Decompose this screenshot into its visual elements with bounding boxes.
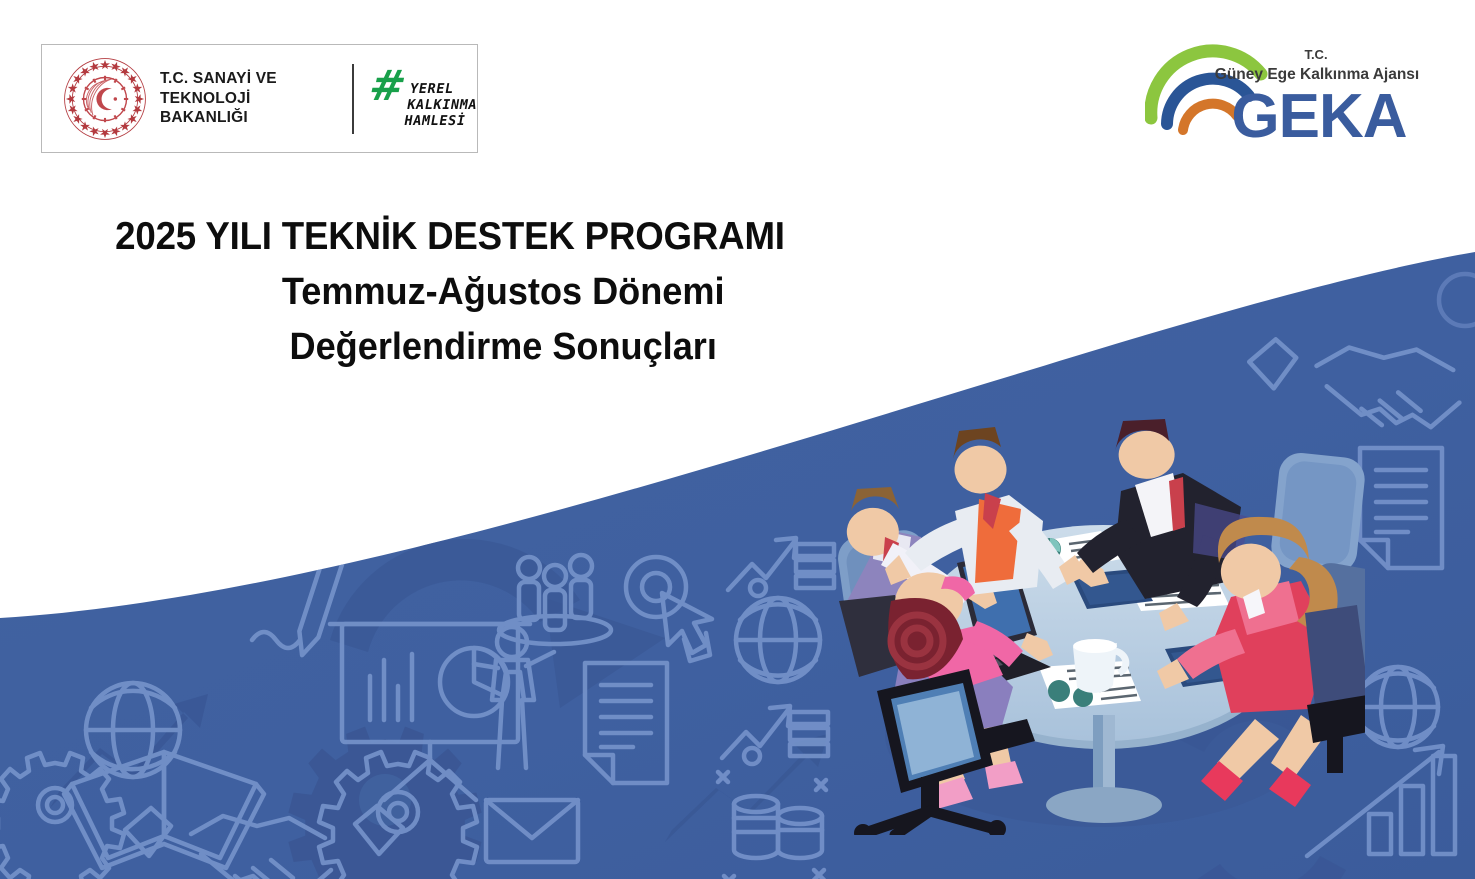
yerel-line-2: KALKINMA bbox=[406, 98, 479, 114]
geka-wordmark: GEKA bbox=[1231, 82, 1406, 151]
title-line-3: Değerlendirme Sonuçları bbox=[23, 320, 878, 375]
yerel-line-3: HAMLESİ bbox=[403, 113, 476, 129]
yerel-kalkinma-hamlesi-logo: # YEREL KALKINMA HAMLESİ bbox=[370, 68, 477, 130]
geka-logo: T.C. Güney Ege Kalkınma Ajansı GEKA bbox=[1145, 42, 1435, 154]
title-line-2: Temmuz-Ağustos Dönemi bbox=[23, 265, 878, 320]
ministry-name-text: T.C. SANAYİ VE TEKNOLOJİ BAKANLIĞI bbox=[160, 69, 330, 128]
business-meeting-illustration bbox=[835, 415, 1365, 835]
page-title: 2025 YILI TEKNİK DESTEK PROGRAMI Temmuz-… bbox=[0, 215, 900, 375]
hashtag-icon: # bbox=[366, 68, 409, 104]
geka-tc-label: T.C. bbox=[1304, 47, 1327, 62]
geka-subtitle-label: Güney Ege Kalkınma Ajansı bbox=[1215, 66, 1419, 83]
tc-sanayi-teknoloji-bakanligi-emblem-icon bbox=[62, 56, 148, 142]
yerel-line-1: YEREL bbox=[409, 82, 482, 98]
title-line-1: 2025 YILI TEKNİK DESTEK PROGRAMI bbox=[27, 215, 873, 259]
logo-divider bbox=[352, 64, 354, 134]
chair-back-right bbox=[1269, 451, 1365, 575]
slide-root: T.C. SANAYİ VE TEKNOLOJİ BAKANLIĞI # YER… bbox=[0, 0, 1475, 879]
ministry-logo-box: T.C. SANAYİ VE TEKNOLOJİ BAKANLIĞI # YER… bbox=[41, 44, 478, 153]
